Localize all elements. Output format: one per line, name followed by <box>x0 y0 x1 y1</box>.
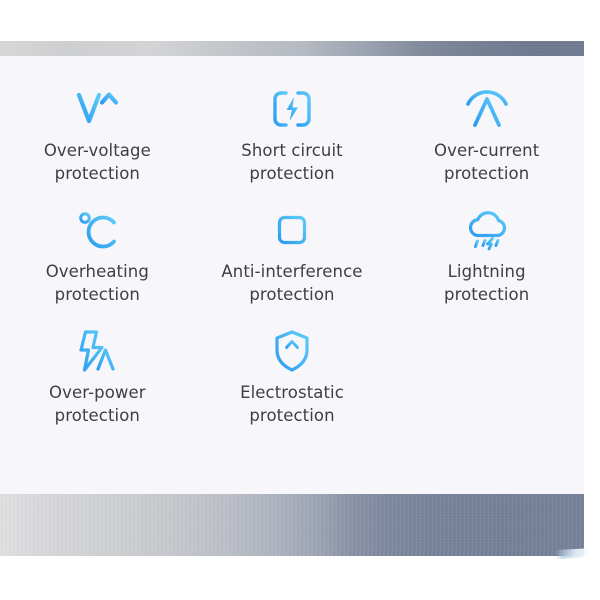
over-power-icon <box>70 328 124 374</box>
feature-overheating: Overheating protection <box>0 207 195 306</box>
edge-highlight-sliver <box>556 548 600 559</box>
electrostatic-icon <box>265 328 319 374</box>
feature-label: Overheating protection <box>46 260 149 306</box>
feature-panel: Over-voltage protection <box>0 56 584 494</box>
feature-label: Over-current protection <box>434 139 539 185</box>
feature-grid: Over-voltage protection <box>0 86 584 427</box>
feature-label: Over-power protection <box>49 381 146 427</box>
feature-lightning: Lightning protection <box>389 207 584 306</box>
overheating-icon <box>70 207 124 253</box>
lightning-icon <box>460 207 514 253</box>
feature-over-voltage: Over-voltage protection <box>0 86 195 185</box>
metallic-edge-top <box>0 41 584 56</box>
metallic-edge-bottom <box>0 494 584 556</box>
short-circuit-icon <box>265 86 319 132</box>
feature-over-power: Over-power protection <box>0 328 195 427</box>
over-current-icon <box>460 86 514 132</box>
feature-label: Short circuit protection <box>241 139 342 185</box>
feature-label: Over-voltage protection <box>44 139 151 185</box>
feature-over-current: Over-current protection <box>389 86 584 185</box>
feature-label: Lightning protection <box>444 260 529 306</box>
feature-label: Electrostatic protection <box>240 381 344 427</box>
anti-interference-icon <box>265 207 319 253</box>
feature-anti-interference: Anti-interference protection <box>195 207 390 306</box>
feature-electrostatic: Electrostatic protection <box>195 328 390 427</box>
feature-short-circuit: Short circuit protection <box>195 86 390 185</box>
feature-label: Anti-interference protection <box>221 260 362 306</box>
product-feature-infographic: Over-voltage protection <box>0 0 600 600</box>
over-voltage-icon <box>70 86 124 132</box>
